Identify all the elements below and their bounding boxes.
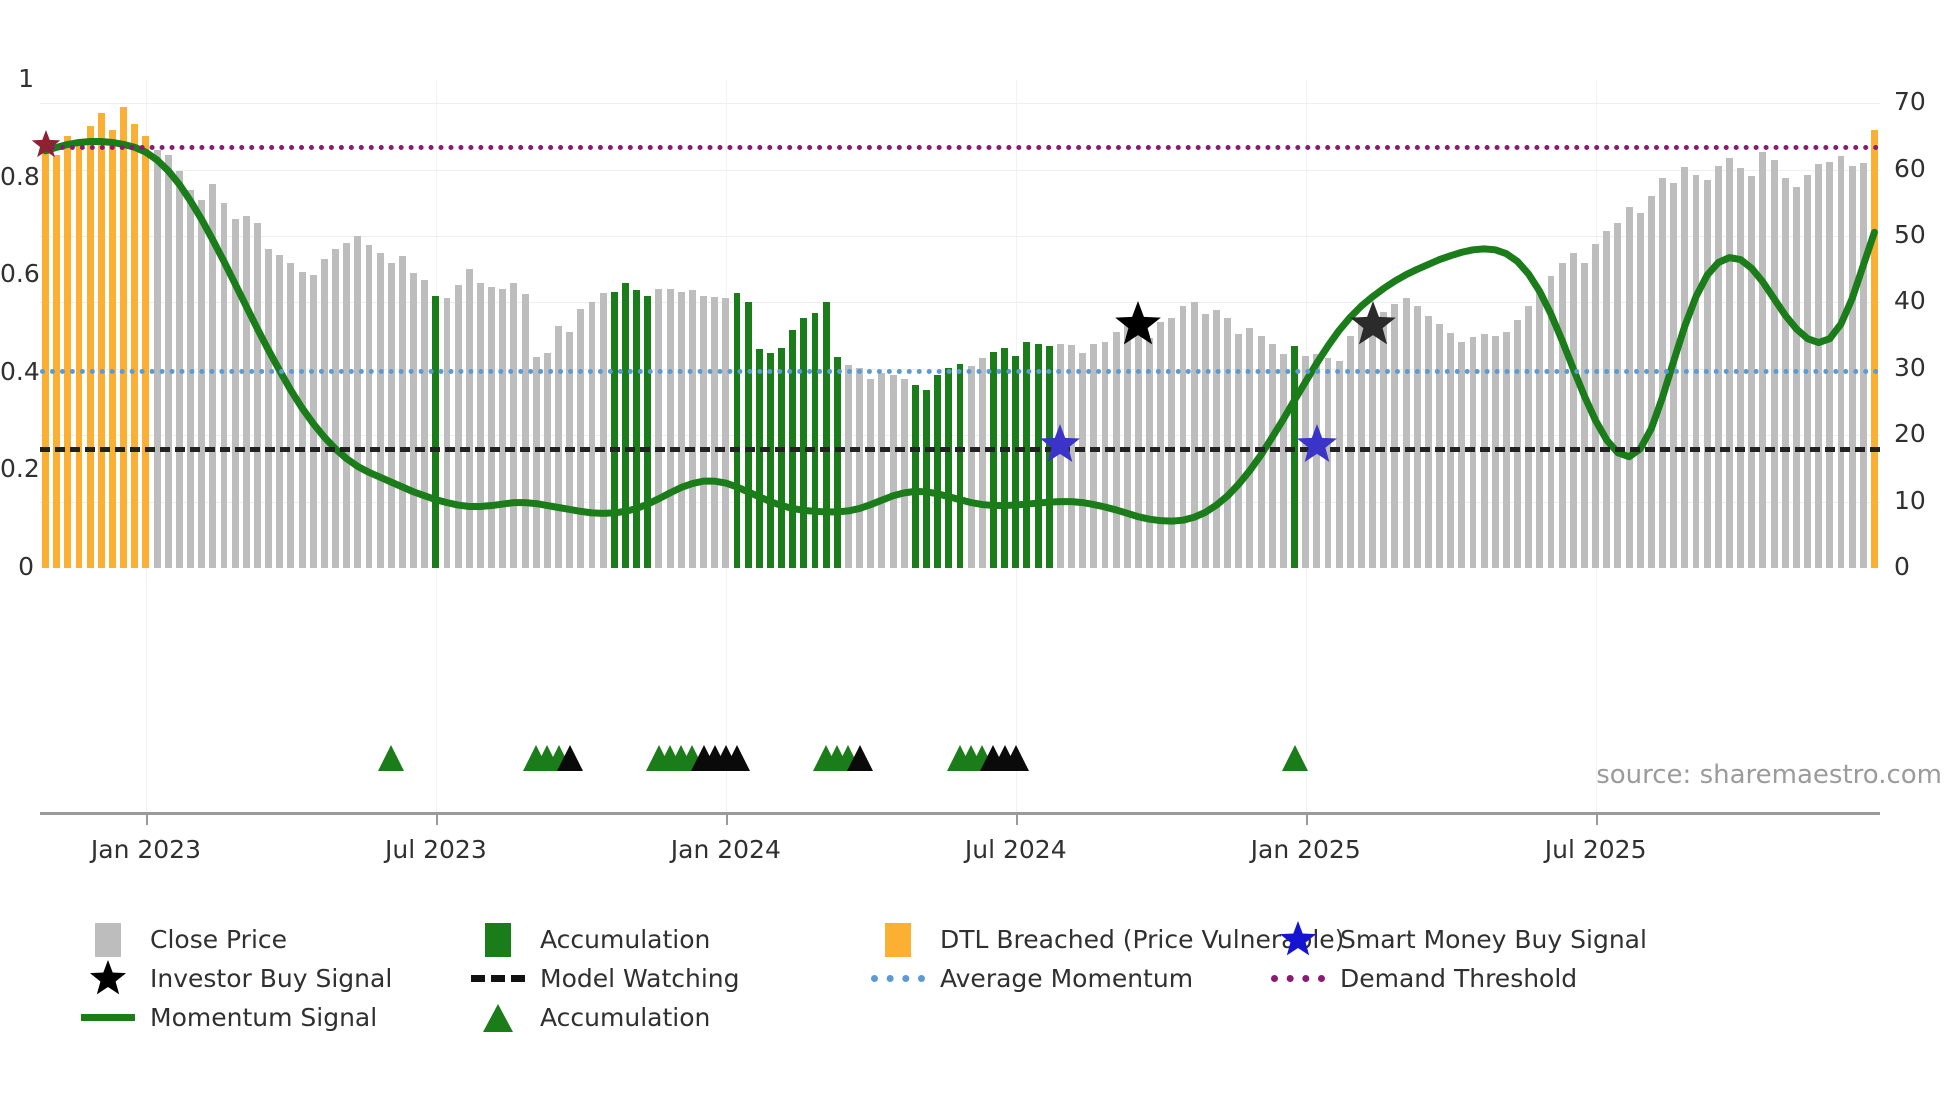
chart-canvas: 00.20.40.60.81 010203040506070 source: s… [0,0,1960,1102]
legend-item-model-watching[interactable]: Model Watching [470,959,740,998]
legend-label: Momentum Signal [150,1003,377,1032]
legend-label: Average Momentum [940,964,1193,993]
accumulation-triangle-icon [847,745,873,771]
left-axis-tick-label: 0.4 [0,357,34,386]
reference-line-model-watching [40,447,1880,452]
right-axis-tick-label: 50 [1894,220,1926,249]
right-axis-tick-label: 0 [1894,552,1910,581]
close-price-swatch-icon [80,923,136,957]
dtl-breached-swatch-icon [870,923,926,957]
triangle-swatch-icon [470,1004,526,1032]
x-axis-tick-label: Jan 2023 [91,835,201,864]
plot-clip [40,80,1880,568]
x-axis-tick-label: Jan 2025 [1251,835,1361,864]
dotted-line-swatch-icon [1270,975,1326,982]
left-axis-tick-label: 0.2 [0,454,34,483]
right-axis-tick-label: 70 [1894,87,1926,116]
x-axis-tick-label: Jul 2024 [965,835,1067,864]
plot-area [40,80,1880,568]
right-axis-tick-label: 40 [1894,286,1926,315]
legend-row: Investor Buy SignalModel WatchingAverage… [80,959,1910,998]
legend-label: Accumulation [540,1003,710,1032]
x-axis-tick-mark [1306,812,1308,825]
investor-buy-star-icon [1114,301,1162,349]
legend-item-accumulation-bar[interactable]: Accumulation [470,920,710,959]
x-axis-tick-label: Jan 2024 [671,835,781,864]
accumulation-bar-swatch-icon [470,923,526,957]
x-axis-tick-mark [726,812,728,825]
right-axis-tick-label: 10 [1894,486,1926,515]
legend-label: Demand Threshold [1340,964,1577,993]
legend-item-demand-threshold[interactable]: Demand Threshold [1270,959,1577,998]
legend-label: Investor Buy Signal [150,964,392,993]
chart-legend: Close PriceAccumulationDTL Breached (Pri… [80,920,1910,1037]
accumulation-triangle-icon [1003,745,1029,771]
dashed-line-swatch-icon [470,975,526,982]
legend-label: Model Watching [540,964,740,993]
dotted-line-swatch-icon [870,975,926,982]
right-axis-tick-label: 20 [1894,419,1926,448]
legend-item-investor-buy[interactable]: Investor Buy Signal [80,959,392,998]
legend-item-momentum-signal[interactable]: Momentum Signal [80,998,377,1037]
x-axis-tick-mark [1016,812,1018,825]
investor-buy-star-icon [1349,301,1397,349]
x-axis-tick-label: Jul 2025 [1545,835,1647,864]
legend-label: Smart Money Buy Signal [1340,925,1647,954]
legend-item-average-momentum[interactable]: Average Momentum [870,959,1193,998]
smart-money-buy-star-icon [1039,424,1081,466]
x-axis-tick-label: Jul 2023 [385,835,487,864]
x-axis-tick-mark [436,812,438,825]
legend-label: Close Price [150,925,287,954]
momentum-path [46,141,1875,521]
source-label: source: sharemaestro.com [1596,760,1942,790]
x-axis-tick-mark [1596,812,1598,825]
momentum-signal-line [40,80,1880,568]
accumulation-triangle-icon [557,745,583,771]
left-axis-tick-label: 0.8 [0,162,34,191]
left-axis-tick-label: 0.6 [0,259,34,288]
line-swatch-icon [80,1014,136,1021]
smart-money-buy-star-icon [1296,424,1338,466]
left-axis-tick-label: 1 [0,64,34,93]
demand-marker-icon [31,130,61,160]
right-axis-tick-label: 60 [1894,154,1926,183]
legend-row: Close PriceAccumulationDTL Breached (Pri… [80,920,1910,959]
star-swatch-icon [80,960,136,998]
right-axis-tick-label: 30 [1894,353,1926,382]
legend-item-close-price[interactable]: Close Price [80,920,287,959]
legend-item-smart-money-buy[interactable]: Smart Money Buy Signal [1270,920,1647,959]
legend-row: Momentum SignalAccumulation [80,998,1910,1037]
accumulation-triangle-icon [724,745,750,771]
x-axis-tick-mark [146,812,148,825]
legend-label: Accumulation [540,925,710,954]
reference-line-average-momentum [40,369,1880,374]
left-axis-tick-label: 0 [0,552,34,581]
x-axis-line [40,812,1880,815]
legend-item-accumulation-tri[interactable]: Accumulation [470,998,710,1037]
accumulation-triangle-icon [1282,745,1308,771]
star-swatch-icon [1270,921,1326,959]
accumulation-triangle-icon [378,745,404,771]
reference-line-demand-threshold [40,145,1880,150]
